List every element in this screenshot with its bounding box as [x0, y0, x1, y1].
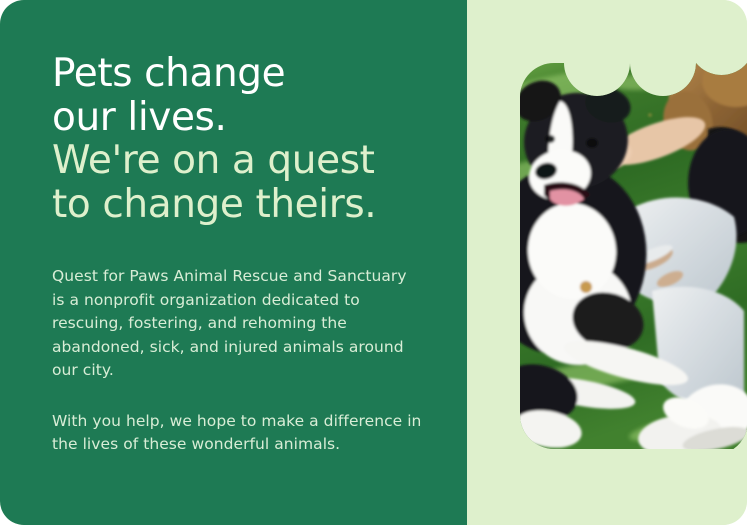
headline-line-2: our lives. — [52, 96, 427, 140]
hero-photo — [520, 63, 747, 449]
photo-scallop-mask — [520, 63, 747, 449]
headline-line-4: to change theirs. — [52, 183, 427, 227]
body-paragraph-1: Quest for Paws Animal Rescue and Sanctua… — [52, 265, 424, 383]
page-title: Pets change our lives. We're on a quest … — [52, 52, 427, 226]
headline-line-3: We're on a quest — [52, 139, 427, 183]
text-panel: Pets change our lives. We're on a quest … — [0, 0, 467, 525]
hero-card: Pets change our lives. We're on a quest … — [0, 0, 747, 525]
body-paragraph-2: With you help, we hope to make a differe… — [52, 410, 424, 457]
headline-line-1: Pets change — [52, 52, 427, 96]
